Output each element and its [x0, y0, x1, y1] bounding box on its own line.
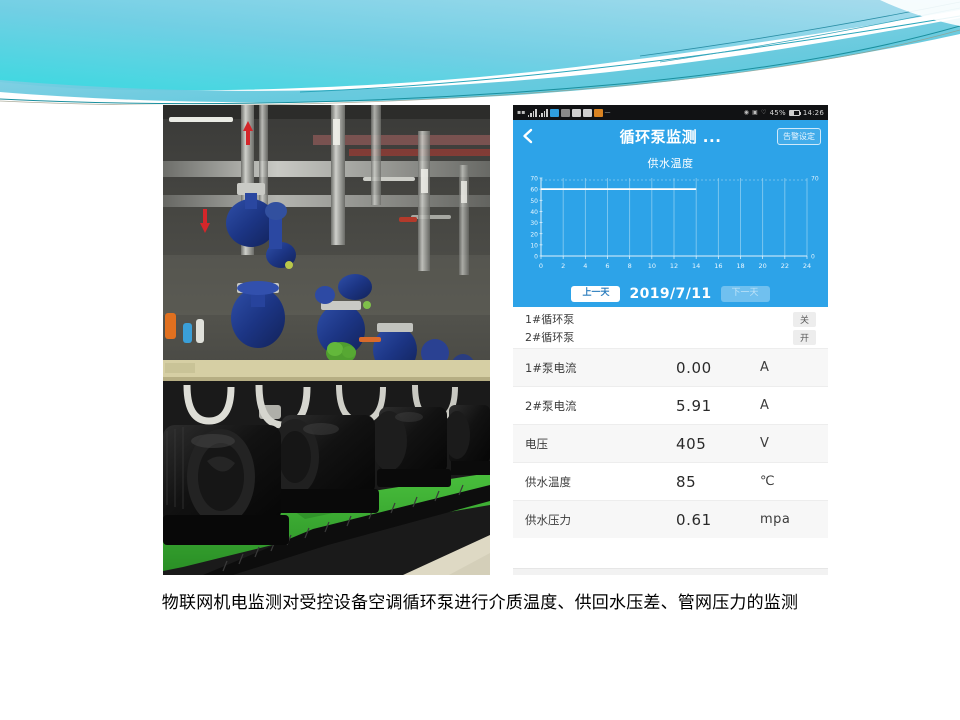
chart-y-tick-label: 20	[530, 231, 538, 238]
pump-room-photo	[163, 105, 490, 575]
chart-x-tick-label: 2	[561, 262, 565, 270]
back-button-icon[interactable]: ◁	[559, 572, 571, 575]
pump-status-row: 2#循环泵开	[513, 328, 828, 346]
measurement-unit: A	[760, 360, 816, 375]
measurement-unit: A	[760, 398, 816, 413]
more-icon: —	[605, 109, 611, 116]
eye-icon: ◉	[744, 109, 749, 116]
previous-day-button[interactable]: 上一天	[571, 286, 620, 301]
shield-icon: ♡	[761, 109, 767, 116]
pump-name: 2#循环泵	[525, 329, 574, 345]
measurement-value: 405	[676, 435, 760, 453]
app-icon-2	[594, 109, 603, 117]
measurement-label: 2#泵电流	[525, 398, 676, 414]
status-bar-left-icons: ▪▪ —	[517, 109, 611, 117]
photo-icon	[572, 109, 581, 117]
alarm-settings-button[interactable]: 告警设定	[777, 128, 821, 145]
measurement-label: 供水压力	[525, 512, 676, 528]
signal-icon	[528, 109, 537, 117]
slide-content: ▪▪ — ◉ ▣ ♡ 45% 14:26	[0, 105, 960, 720]
chart-x-tick-label: 8	[628, 262, 632, 270]
chart-x-tick-label: 14	[692, 262, 700, 270]
pump-state-badge: 关	[793, 312, 816, 327]
app-icon	[583, 109, 592, 117]
chevron-left-icon[interactable]	[520, 128, 536, 144]
measurement-list: 1#泵电流0.00A2#泵电流5.91A电压405V供水温度85℃供水压力0.6…	[513, 348, 828, 538]
chart-right-axis-label: 0	[811, 254, 815, 261]
chart-x-tick-label: 18	[736, 262, 744, 270]
measurement-label: 1#泵电流	[525, 360, 676, 376]
carrier-icon: ▪▪	[517, 109, 526, 116]
chart-y-tick-label: 40	[530, 209, 538, 216]
battery-percent-label: 45%	[770, 109, 786, 117]
measurement-value: 85	[676, 473, 760, 491]
measurement-value: 0.61	[676, 511, 760, 529]
phone-app-screenshot: ▪▪ — ◉ ▣ ♡ 45% 14:26	[513, 105, 828, 575]
hd-icon: ▣	[752, 109, 758, 116]
signal-icon-2	[539, 109, 548, 117]
pump-status-row: 1#循环泵关	[513, 310, 828, 328]
banner-swoosh-svg	[0, 0, 960, 105]
chart-y-tick-label: 10	[530, 242, 538, 249]
measurement-list-filler	[513, 538, 828, 568]
measurement-unit: ℃	[760, 474, 816, 489]
chart-x-tick-label: 12	[670, 262, 678, 270]
chart-x-tick-label: 20	[759, 262, 767, 270]
wifi-icon	[550, 109, 559, 117]
chart-x-tick-label: 24	[803, 262, 811, 270]
current-date-label: 2019/7/11	[629, 286, 711, 302]
status-bar-time: 14:26	[803, 109, 824, 117]
phone-status-bar: ▪▪ — ◉ ▣ ♡ 45% 14:26	[513, 105, 828, 120]
measurement-label: 电压	[525, 436, 676, 452]
chart-y-tick-label: 30	[530, 220, 538, 227]
chart-right-axis-label: 70	[811, 176, 819, 183]
chart-panel: 供水温度 70605040302010070002468101214161820…	[513, 152, 828, 283]
chart-x-tick-label: 22	[781, 262, 789, 270]
recents-button-icon[interactable]: □	[767, 572, 782, 575]
chart-y-tick-label: 70	[530, 176, 538, 183]
supply-water-temperature-chart[interactable]: 706050403020100700024681012141618202224	[519, 172, 822, 277]
measurement-value: 0.00	[676, 359, 760, 377]
status-bar-right-icons: ◉ ▣ ♡ 45% 14:26	[744, 109, 824, 117]
chart-y-tick-label: 50	[530, 198, 538, 205]
chart-x-tick-label: 10	[648, 262, 656, 270]
measurement-label: 供水温度	[525, 474, 676, 490]
chart-x-tick-label: 16	[714, 262, 722, 270]
android-navigation-bar: ◁ ○ □	[513, 568, 828, 575]
next-day-button[interactable]: 下一天	[721, 286, 770, 301]
app-bar: 循环泵监测 ... 告警设定	[513, 120, 828, 152]
measurement-row: 1#泵电流0.00A	[513, 348, 828, 386]
home-button-icon[interactable]: ○	[662, 572, 676, 575]
date-navigation: 上一天 2019/7/11 下一天	[513, 283, 828, 307]
chart-x-tick-label: 0	[539, 262, 543, 270]
measurement-value: 5.91	[676, 397, 760, 415]
chart-x-tick-label: 6	[605, 262, 609, 270]
measurement-row: 电压405V	[513, 424, 828, 462]
battery-icon	[789, 110, 800, 116]
photo-illustration	[163, 105, 490, 575]
measurement-unit: mpa	[760, 512, 816, 527]
pump-state-badge: 开	[793, 330, 816, 345]
pump-name: 1#循环泵	[525, 311, 574, 327]
pump-status-list: 1#循环泵关2#循环泵开	[513, 307, 828, 348]
chart-x-tick-label: 4	[583, 262, 587, 270]
chart-y-tick-label: 0	[534, 254, 538, 261]
measurement-row: 供水温度85℃	[513, 462, 828, 500]
slide-banner-decoration	[0, 0, 960, 105]
slide-caption: 物联网机电监测对受控设备空调循环泵进行介质温度、供回水压差、管网压力的监测	[0, 588, 960, 613]
measurement-row: 2#泵电流5.91A	[513, 386, 828, 424]
chart-y-tick-label: 60	[530, 187, 538, 194]
measurement-unit: V	[760, 436, 816, 451]
usb-icon	[561, 109, 570, 117]
chart-canvas-wrap[interactable]: 706050403020100700024681012141618202224	[513, 172, 828, 283]
chart-title: 供水温度	[513, 154, 828, 172]
measurement-row: 供水压力0.61mpa	[513, 500, 828, 538]
